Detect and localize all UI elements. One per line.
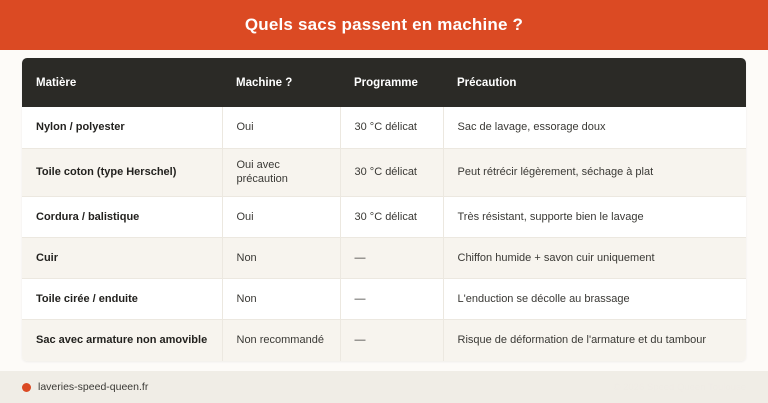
table-body: Nylon / polyester Oui 30 °C délicat Sac … (22, 107, 746, 361)
footer-brand: laveries-speed-queen.fr (22, 381, 148, 393)
table-header-row: Matière Machine ? Programme Précaution (22, 58, 746, 107)
cell-precaution: Très résistant, supporte bien le lavage (443, 197, 746, 238)
table-row: Toile cirée / enduite Non — L'enduction … (22, 279, 746, 320)
cell-precaution: L'enduction se décolle au brassage (443, 279, 746, 320)
cell-precaution: Risque de déformation de l'armature et d… (443, 320, 746, 361)
cell-machine: Non (222, 238, 340, 279)
bullet-dot-icon (22, 383, 31, 392)
cell-programme: — (340, 238, 443, 279)
footer-site-name: laveries-speed-queen.fr (38, 381, 148, 393)
column-header-programme: Programme (340, 58, 443, 107)
table-row: Toile coton (type Herschel) Oui avec pré… (22, 148, 746, 197)
table-row: Cuir Non — Chiffon humide + savon cuir u… (22, 238, 746, 279)
table-card: Matière Machine ? Programme Précaution N… (22, 58, 746, 361)
column-header-machine: Machine ? (222, 58, 340, 107)
page-title: Quels sacs passent en machine ? (245, 15, 523, 35)
cell-machine: Oui (222, 107, 340, 148)
cell-machine: Non (222, 279, 340, 320)
content-area: Matière Machine ? Programme Précaution N… (0, 50, 768, 361)
cell-machine: Oui (222, 197, 340, 238)
page-footer: laveries-speed-queen.fr © 2026 Speed Que… (0, 371, 768, 403)
page-header-banner: Quels sacs passent en machine ? (0, 0, 768, 50)
cell-precaution: Sac de lavage, essorage doux (443, 107, 746, 148)
cell-matiere: Cuir (22, 238, 222, 279)
cell-matiere: Sac avec armature non amovible (22, 320, 222, 361)
cell-programme: 30 °C délicat (340, 107, 443, 148)
cell-programme: — (340, 320, 443, 361)
cell-machine: Oui avec précaution (222, 148, 340, 197)
washing-guide-table: Matière Machine ? Programme Précaution N… (22, 58, 746, 361)
cell-matiere: Toile cirée / enduite (22, 279, 222, 320)
cell-programme: 30 °C délicat (340, 148, 443, 197)
cell-matiere: Cordura / balistique (22, 197, 222, 238)
table-row: Cordura / balistique Oui 30 °C délicat T… (22, 197, 746, 238)
cell-precaution: Peut rétrécir légèrement, séchage à plat (443, 148, 746, 197)
cell-programme: 30 °C délicat (340, 197, 443, 238)
cell-precaution: Chiffon humide + savon cuir uniquement (443, 238, 746, 279)
column-header-precaution: Précaution (443, 58, 746, 107)
footer-copyright: © 2026 Speed Queen Toulouse (613, 382, 746, 393)
column-header-matiere: Matière (22, 58, 222, 107)
table-row: Sac avec armature non amovible Non recom… (22, 320, 746, 361)
cell-matiere: Nylon / polyester (22, 107, 222, 148)
cell-matiere: Toile coton (type Herschel) (22, 148, 222, 197)
cell-programme: — (340, 279, 443, 320)
table-header: Matière Machine ? Programme Précaution (22, 58, 746, 107)
cell-machine: Non recommandé (222, 320, 340, 361)
table-row: Nylon / polyester Oui 30 °C délicat Sac … (22, 107, 746, 148)
